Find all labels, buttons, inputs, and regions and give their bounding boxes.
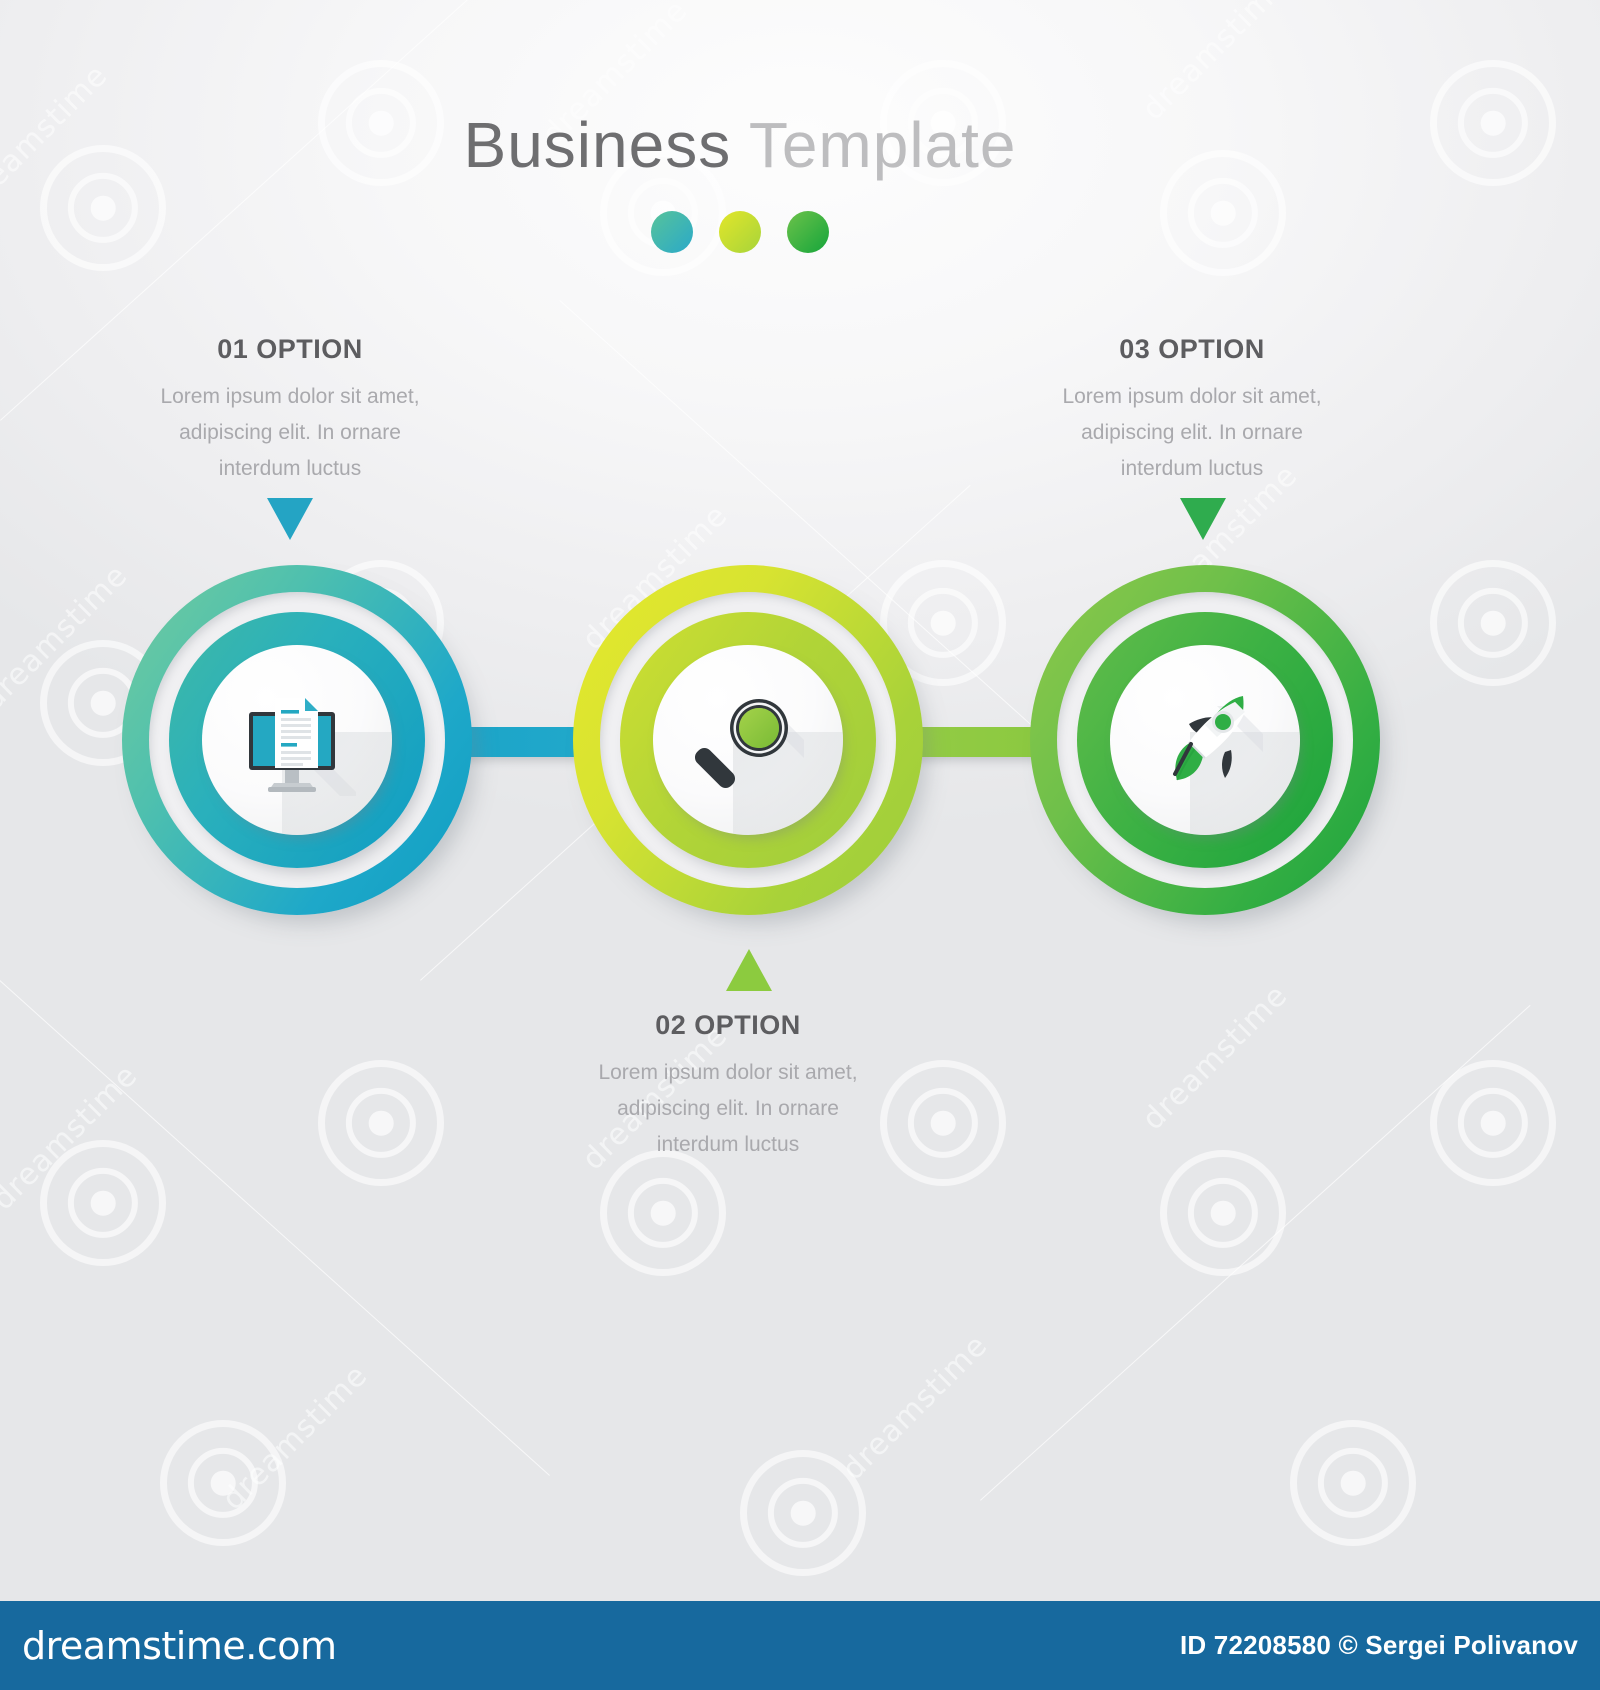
option-03-text-block: 03 OPTION Lorem ipsum dolor sit amet, ad… [977,334,1407,487]
watermark-spiral-icon [40,1140,166,1266]
watermark-text: dreamstime [215,1358,374,1517]
option-03-icon-core [1110,645,1300,835]
watermark-spiral-icon [1430,1060,1556,1186]
rocket-icon [1110,645,1300,835]
dreamstime-bar: dreamstime.com ID 72208580 © Sergei Poli… [0,1601,1600,1690]
image-credit: ID 72208580 © Sergei Polivanov [1180,1630,1578,1661]
option-03-body: Lorem ipsum dolor sit amet, adipiscing e… [977,379,1407,487]
option-02-node[interactable] [573,565,923,915]
page-title-light: Template [749,109,1017,181]
watermark-text: dreamstime [1135,978,1294,1137]
watermark-spiral-icon [160,1420,286,1546]
option-01-body-line: adipiscing elit. In ornare [75,415,505,451]
option-03-title: 03 OPTION [977,334,1407,365]
page-title: Business Template [0,108,1480,182]
watermark-spiral-icon [600,1150,726,1276]
watermark-spiral-icon [1290,1420,1416,1546]
option-02-body-line: Lorem ipsum dolor sit amet, [513,1055,943,1091]
header-dots [0,211,1480,253]
option-01-node[interactable] [122,565,472,915]
option-01-body-line: Lorem ipsum dolor sit amet, [75,379,505,415]
option-03-body-line: interdum luctus [977,451,1407,487]
option-01-body: Lorem ipsum dolor sit amet, adipiscing e… [75,379,505,487]
option-01-pointer-triangle-down-icon [267,498,313,540]
option-02-body: Lorem ipsum dolor sit amet, adipiscing e… [513,1055,943,1163]
magnifier-icon [653,645,843,835]
option-02-body-line: interdum luctus [513,1127,943,1163]
watermark-spiral-icon [1160,1150,1286,1276]
option-02-text-block: 02 OPTION Lorem ipsum dolor sit amet, ad… [513,1010,943,1163]
dot-lime-icon [719,211,761,253]
dreamstime-logo[interactable]: dreamstime.com [22,1624,336,1668]
option-03-body-line: Lorem ipsum dolor sit amet, [977,379,1407,415]
option-01-body-line: interdum luctus [75,451,505,487]
monitor-document-icon [202,645,392,835]
watermark-text: dreamstime [0,1058,145,1217]
option-02-pointer-triangle-up-icon [726,949,772,991]
page-title-strong: Business [464,109,732,181]
option-02-body-line: adipiscing elit. In ornare [513,1091,943,1127]
option-03-body-line: adipiscing elit. In ornare [977,415,1407,451]
watermark-text: dreamstime [0,558,135,717]
watermark-spiral-icon [1430,560,1556,686]
option-01-text-block: 01 OPTION Lorem ipsum dolor sit amet, ad… [75,334,505,487]
option-01-title: 01 OPTION [75,334,505,365]
option-02-title: 02 OPTION [513,1010,943,1041]
dot-teal-icon [651,211,693,253]
option-02-icon-core [653,645,843,835]
option-03-node[interactable] [1030,565,1380,915]
watermark-spiral-icon [740,1450,866,1576]
dot-green-icon [787,211,829,253]
infographic-canvas: dreamstime dreamstime dreamstime dreamst… [0,0,1600,1690]
watermark-spiral-icon [318,1060,444,1186]
option-03-pointer-triangle-down-icon [1180,498,1226,540]
option-01-icon-core [202,645,392,835]
watermark-text: dreamstime [835,1328,994,1487]
